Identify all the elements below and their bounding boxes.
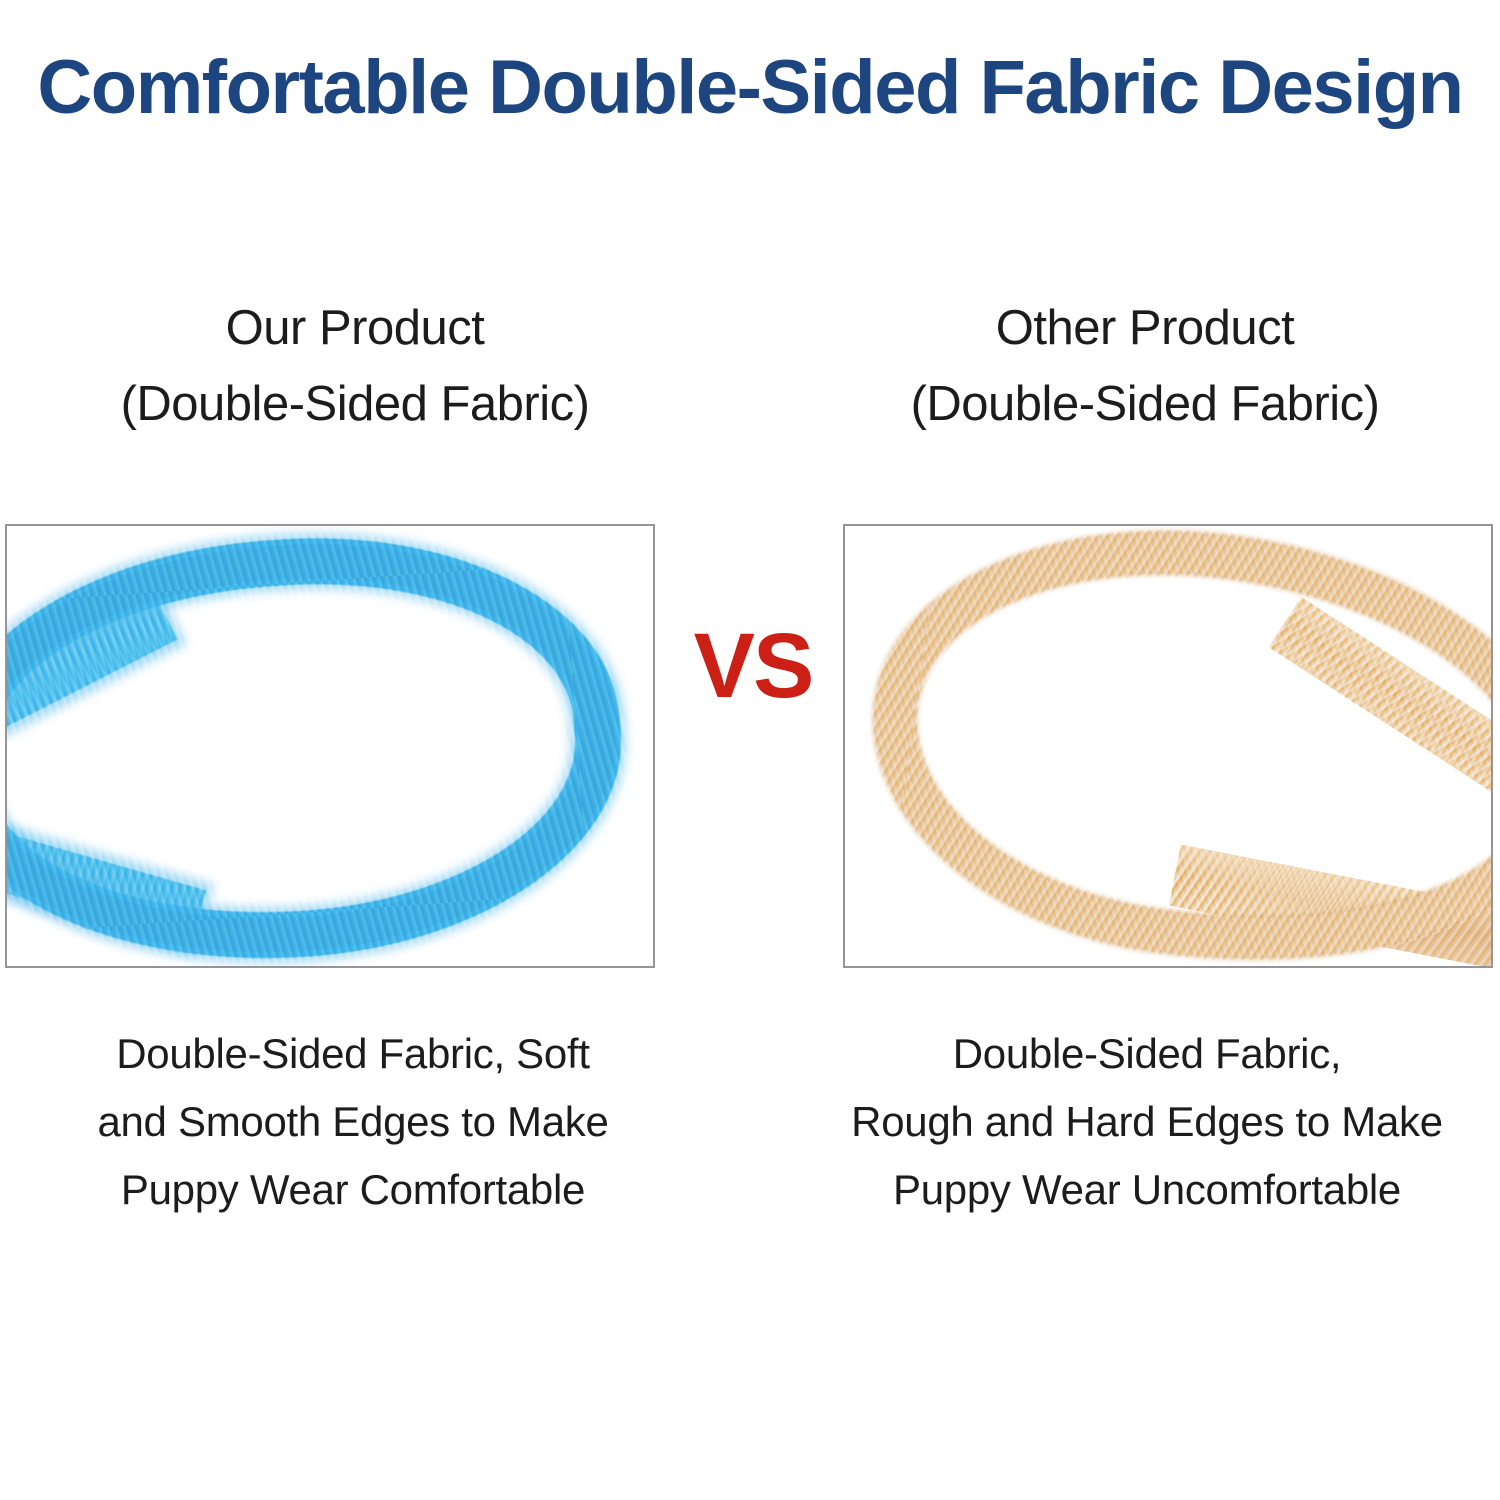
other-product-caption-line2: Rough and Hard Edges to Make [797, 1088, 1497, 1156]
our-product-photo-panel [5, 524, 655, 968]
our-product-caption-line3: Puppy Wear Comfortable [3, 1156, 703, 1224]
other-product-caption: Double-Sided Fabric, Rough and Hard Edge… [797, 1020, 1497, 1224]
our-product-heading: Our Product (Double-Sided Fabric) [5, 290, 705, 442]
our-product-heading-line2: (Double-Sided Fabric) [5, 366, 705, 442]
comparison-section: Our Product (Double-Sided Fabric) Other … [0, 0, 1500, 1500]
blue-velcro-strap-image [7, 526, 653, 966]
our-product-heading-line1: Our Product [226, 301, 485, 355]
other-product-heading: Other Product (Double-Sided Fabric) [795, 290, 1495, 442]
tan-woven-strap-image [845, 526, 1491, 966]
column-other-product: Other Product (Double-Sided Fabric) [795, 290, 1495, 442]
our-product-caption: Double-Sided Fabric, Soft and Smooth Edg… [3, 1020, 703, 1224]
other-product-heading-line1: Other Product [996, 301, 1295, 355]
column-our-product: Our Product (Double-Sided Fabric) [5, 290, 705, 442]
our-product-caption-line1: Double-Sided Fabric, Soft [3, 1020, 703, 1088]
other-product-photo-panel [843, 524, 1493, 968]
other-product-heading-line2: (Double-Sided Fabric) [795, 366, 1495, 442]
vs-badge: VS [663, 620, 843, 712]
other-product-caption-line1: Double-Sided Fabric, [797, 1020, 1497, 1088]
our-product-caption-line2: and Smooth Edges to Make [3, 1088, 703, 1156]
other-product-caption-line3: Puppy Wear Uncomfortable [797, 1156, 1497, 1224]
